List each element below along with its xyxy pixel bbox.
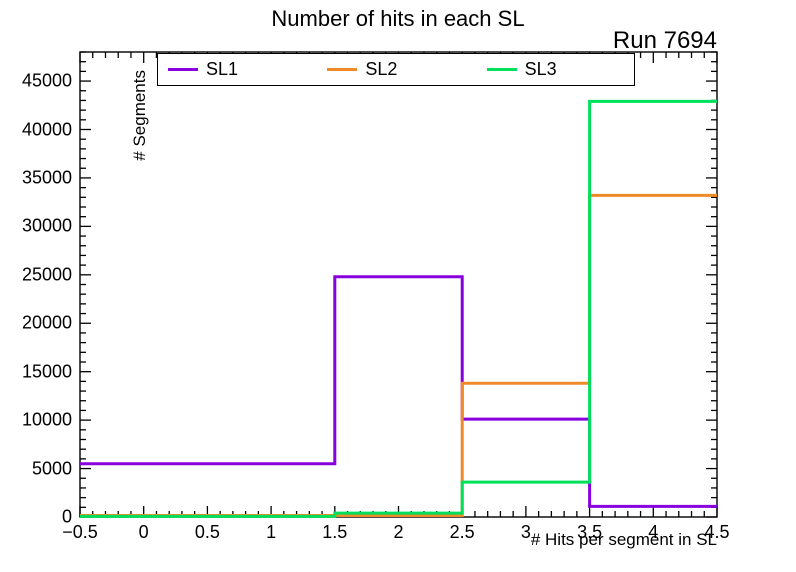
legend-label: SL2 [365,59,397,80]
legend-color-swatch [327,68,357,71]
histogram-series-sl1 [80,277,717,507]
histogram-series-sl3 [80,101,717,516]
histogram-series-sl2 [80,195,717,515]
legend: SL1SL2SL3 [157,53,635,86]
plot-canvas: Number of hits in each SL Run 7694 # Seg… [0,0,796,572]
plot-frame [80,52,717,517]
legend-label: SL3 [525,59,557,80]
legend-entry-sl2[interactable]: SL2 [327,54,397,85]
legend-entry-sl3[interactable]: SL3 [487,54,557,85]
legend-color-swatch [487,68,517,71]
legend-color-swatch [168,68,198,71]
legend-label: SL1 [206,59,238,80]
legend-entry-sl1[interactable]: SL1 [168,54,238,85]
